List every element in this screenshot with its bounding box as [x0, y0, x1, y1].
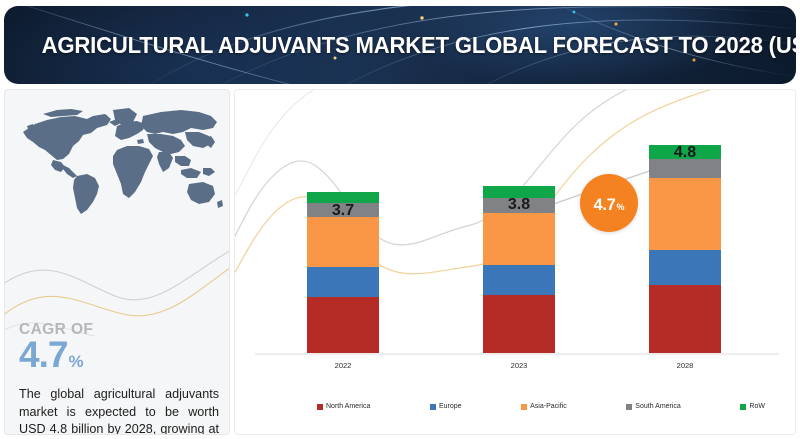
- x-tick-2022: 2022: [307, 361, 379, 370]
- infographic-root: AGRICULTURAL ADJUVANTS MARKET GLOBAL FOR…: [0, 0, 800, 439]
- page-title: AGRICULTURAL ADJUVANTS MARKET GLOBAL FOR…: [4, 6, 748, 84]
- segment-asia-pacific[interactable]: [307, 217, 379, 267]
- cagr-value: 4.7: [19, 336, 67, 373]
- cagr-percent-symbol: %: [68, 352, 83, 372]
- plot-area: 3.7 2022 3.8 2023 4.8 2028: [235, 90, 796, 435]
- bar-total-2028: 4.8: [649, 144, 721, 162]
- legend-item-row[interactable]: RoW: [740, 403, 765, 410]
- legend-label: Europe: [439, 403, 462, 410]
- bar-stack-2028[interactable]: [649, 145, 721, 353]
- segment-europe[interactable]: [649, 250, 721, 285]
- segment-north-america[interactable]: [483, 295, 555, 353]
- cagr-badge-value: 4.7: [593, 196, 615, 215]
- legend-swatch-icon: [521, 404, 527, 410]
- segment-europe[interactable]: [307, 267, 379, 297]
- cagr-badge: 4.7 %: [580, 174, 638, 232]
- left-summary-panel: CAGR OF 4.7 % The global agricultural ad…: [4, 89, 230, 435]
- legend-item-south-america[interactable]: South America: [626, 403, 681, 410]
- legend-swatch-icon: [317, 404, 323, 410]
- world-map-icon: [13, 102, 225, 218]
- legend-swatch-icon: [740, 404, 746, 410]
- legend-swatch-icon: [430, 404, 436, 410]
- segment-north-america[interactable]: [307, 297, 379, 353]
- segment-asia-pacific[interactable]: [483, 213, 555, 265]
- legend-label: North America: [326, 403, 370, 410]
- legend-item-north-america[interactable]: North America: [317, 403, 370, 410]
- legend-label: RoW: [749, 403, 765, 410]
- bar-total-2022: 3.7: [307, 202, 379, 220]
- segment-asia-pacific[interactable]: [649, 178, 721, 250]
- x-axis-line: [255, 353, 779, 355]
- legend-label: Asia-Pacific: [530, 403, 567, 410]
- x-tick-2023: 2023: [483, 361, 555, 370]
- chart-legend: North America Europe Asia-Pacific South …: [257, 403, 777, 410]
- legend-item-europe[interactable]: Europe: [430, 403, 462, 410]
- header-banner: AGRICULTURAL ADJUVANTS MARKET GLOBAL FOR…: [4, 6, 796, 84]
- legend-item-asia-pacific[interactable]: Asia-Pacific: [521, 403, 567, 410]
- legend-label: South America: [635, 403, 681, 410]
- bar-total-2023: 3.8: [483, 196, 555, 214]
- legend-swatch-icon: [626, 404, 632, 410]
- summary-description: The global agricultural adjuvants market…: [19, 386, 219, 435]
- cagr-summary: CAGR OF 4.7 %: [19, 322, 219, 373]
- x-tick-2028: 2028: [649, 361, 721, 370]
- cagr-badge-percent: %: [617, 202, 625, 212]
- segment-north-america[interactable]: [649, 285, 721, 353]
- chart-panel: 3.7 2022 3.8 2023 4.8 2028: [234, 89, 796, 435]
- segment-europe[interactable]: [483, 265, 555, 295]
